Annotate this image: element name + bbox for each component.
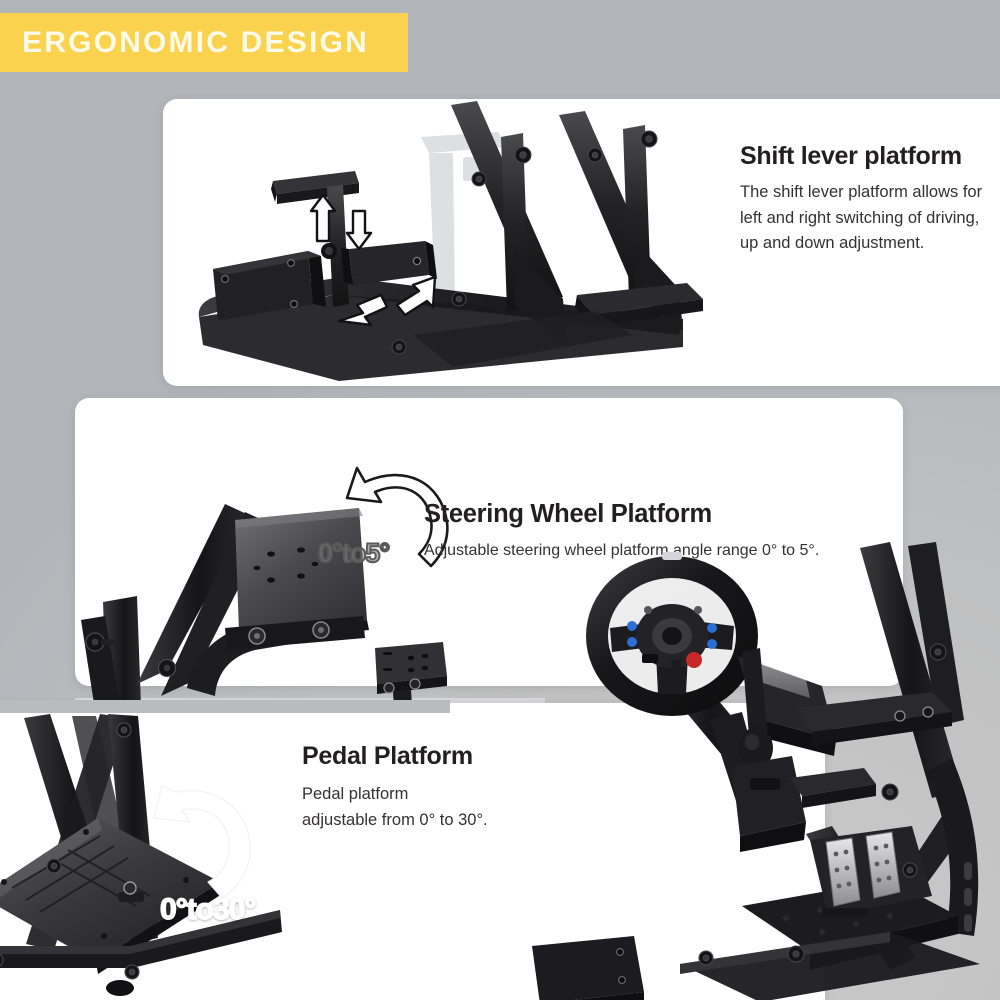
infographic-canvas: ERGONOMIC DESIGN [0, 0, 1000, 1000]
feature-body-shift-lever: The shift lever platform allows for left… [740, 180, 992, 257]
feature-title-pedal: Pedal Platform [302, 742, 602, 771]
ergonomic-design-banner: ERGONOMIC DESIGN [0, 13, 408, 72]
annotation-pedal-angle: 0°to30° [160, 893, 255, 927]
feature-title-steering-wheel: Steering Wheel Platform [424, 500, 894, 529]
annotation-steering-angle: 0°to5° [318, 538, 389, 569]
banner-label: ERGONOMIC DESIGN [0, 26, 369, 60]
feature-body-pedal-line1: Pedal platform [302, 781, 602, 807]
feature-text-steering-wheel: Steering Wheel Platform Adjustable steer… [424, 500, 894, 564]
feature-text-pedal: Pedal Platform Pedal platform adjustable… [302, 742, 602, 834]
feature-title-shift-lever: Shift lever platform [740, 142, 992, 171]
feature-body-pedal-line2: adjustable from 0° to 30°. [302, 807, 602, 833]
feature-body-steering-wheel: Adjustable steering wheel platform angle… [424, 539, 894, 564]
feature-text-shift-lever: Shift lever platform The shift lever pla… [740, 142, 992, 257]
